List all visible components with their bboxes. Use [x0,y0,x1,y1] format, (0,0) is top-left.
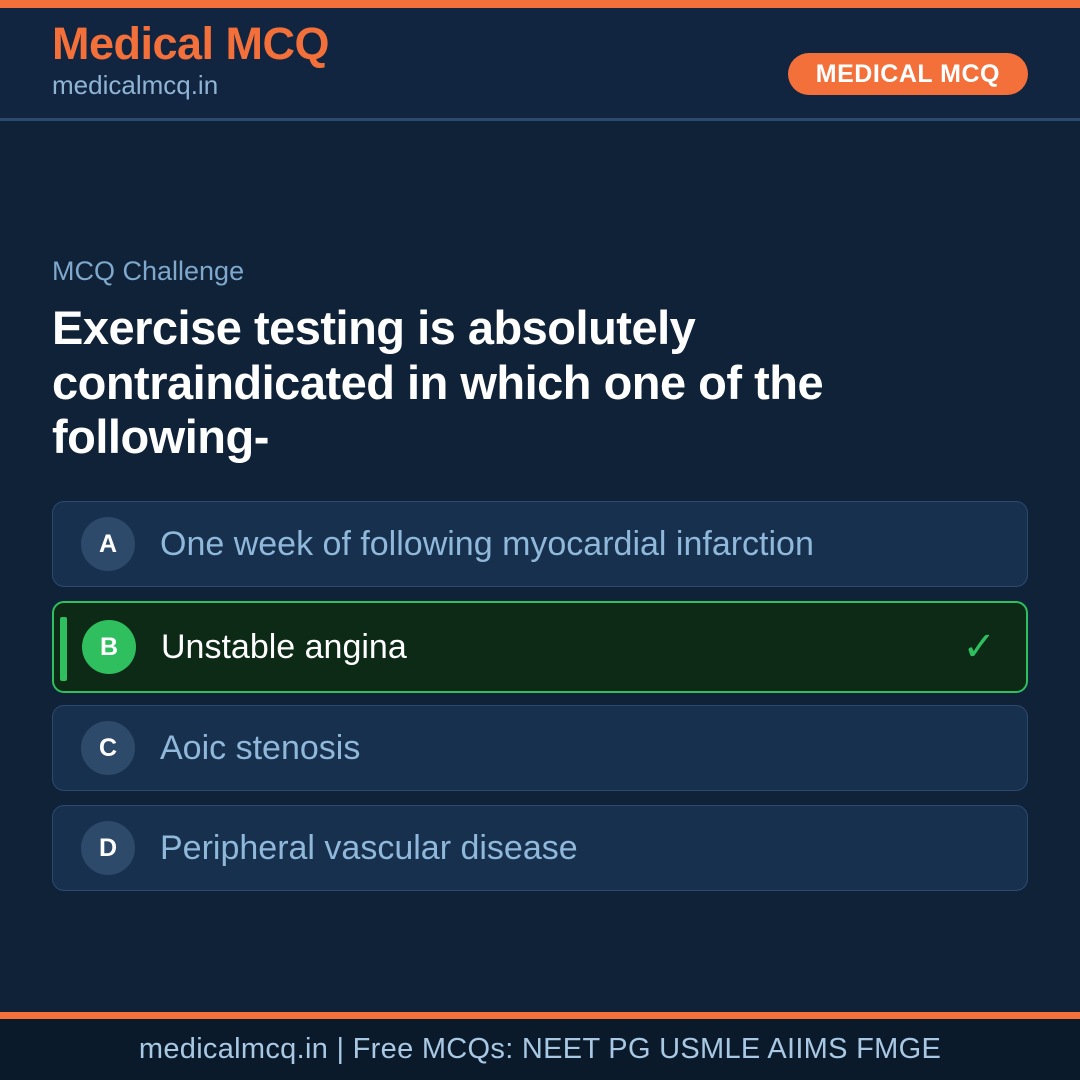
check-icon: ✓ [962,627,996,667]
eyebrow-label: MCQ Challenge [52,255,1028,287]
option-letter-badge: B [82,620,136,674]
option-b[interactable]: B Unstable angina ✓ [52,601,1028,693]
option-label: Unstable angina [161,627,407,668]
option-label: Peripheral vascular disease [160,828,578,869]
top-accent-rule [0,0,1080,8]
brand-subtitle: medicalmcq.in [52,71,329,100]
page-header: Medical MCQ medicalmcq.in MEDICAL MCQ [0,8,1080,121]
option-letter-badge: D [81,821,135,875]
options-list: A One week of following myocardial infar… [52,501,1028,905]
option-a[interactable]: A One week of following myocardial infar… [52,501,1028,587]
page-footer: medicalmcq.in | Free MCQs: NEET PG USMLE… [0,1012,1080,1080]
option-c[interactable]: C Aoic stenosis [52,705,1028,791]
option-d[interactable]: D Peripheral vascular disease [52,805,1028,891]
option-letter-badge: A [81,517,135,571]
brand-badge-label: MEDICAL MCQ [816,60,1000,89]
option-letter-badge: C [81,721,135,775]
correct-accent-bar [60,617,67,681]
brand-badge-pill[interactable]: MEDICAL MCQ [788,53,1028,95]
option-label: Aoic stenosis [160,728,360,769]
option-label: One week of following myocardial infarct… [160,524,814,565]
brand-title: Medical MCQ [52,20,329,69]
brand-block: Medical MCQ medicalmcq.in [52,20,329,99]
question-text: Exercise testing is absolutely contraind… [52,301,1028,465]
footer-text: medicalmcq.in | Free MCQs: NEET PG USMLE… [139,1033,941,1066]
question-block: MCQ Challenge Exercise testing is absolu… [52,255,1028,515]
